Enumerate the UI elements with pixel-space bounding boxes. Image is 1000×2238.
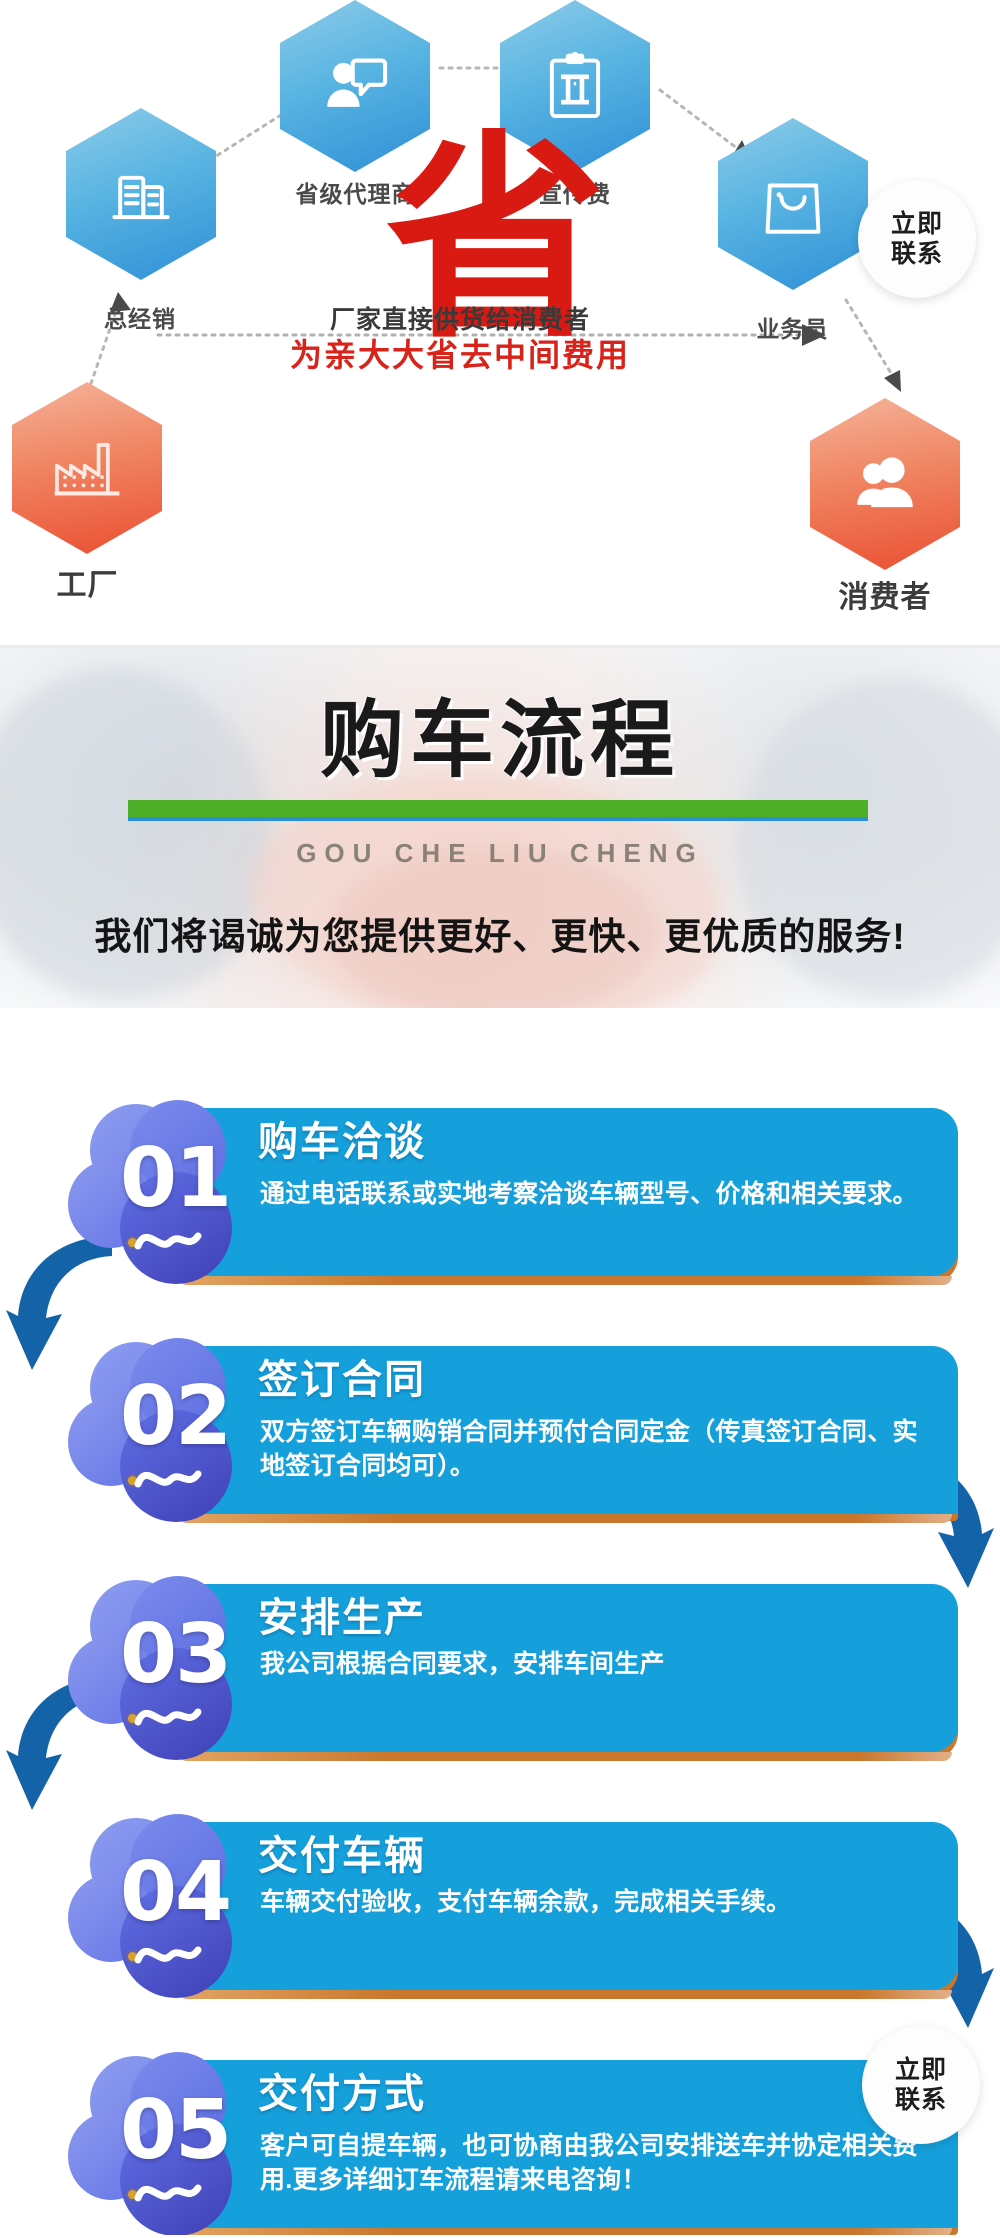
promo-page: 总经销 省级代理商 [0, 0, 1000, 2238]
step-number: 04 [120, 1852, 290, 1934]
tilde-icon [134, 1702, 230, 1732]
step-item-02[interactable]: 签订合同 双方签订车辆购销合同并预付合同定金（传真签订合同、实地签订合同均可）。… [0, 1336, 1000, 1546]
step-item-01[interactable]: 购车洽谈 通过电话联系或实地考察洽谈车辆型号、价格和相关要求。 01 [0, 1098, 1000, 1308]
card-shadow-bar [178, 1752, 952, 1761]
users-icon [848, 447, 922, 521]
card-shadow-bar [178, 1990, 952, 1999]
caption-save-middleman: 为亲大大省去中间费用 [200, 330, 720, 376]
tilde-icon [134, 1464, 230, 1494]
step-number: 01 [120, 1138, 290, 1220]
tilde-icon [134, 1940, 230, 1970]
tilde-icon [134, 1226, 230, 1256]
step-list: 购车洽谈 通过电话联系或实地考察洽谈车辆型号、价格和相关要求。 01 [0, 1008, 1000, 2235]
step-description: 车辆交付验收，支付车辆余款，完成相关手续。 [260, 1886, 930, 1920]
card-shadow-bar [178, 2228, 952, 2235]
shopping-bag-icon [756, 167, 830, 241]
contact-badge-line1: 立即 [895, 2055, 947, 2086]
banner-title: 购车流程 [0, 698, 1000, 782]
node-label-general-distributor: 总经销 [40, 300, 240, 334]
step-item-05[interactable]: 交付方式 客户可自提车辆，也可协商由我公司安排送车并协定相关费用.更多详细订车流… [0, 2050, 1000, 2235]
step-description: 双方签订车辆购销合同并预付合同定金（传真签订合同、实地签订合同均可）。 [260, 1416, 930, 1483]
step-number: 02 [120, 1376, 290, 1458]
agent-chat-icon [318, 49, 392, 123]
step-description: 客户可自提车辆，也可协商由我公司安排送车并协定相关费用.更多详细订车流程请来电咨… [260, 2130, 930, 2197]
step-badge: 02 [68, 1336, 258, 1532]
contact-badge-bottom[interactable]: 立即 联系 [862, 2026, 980, 2144]
step-badge: 04 [68, 1812, 258, 2008]
node-label-factory: 工厂 [0, 560, 175, 604]
step-number: 03 [120, 1614, 290, 1696]
step-description: 通过电话联系或实地考察洽谈车辆型号、价格和相关要求。 [260, 1178, 930, 1212]
banner-subtitle: 我们将谒诚为您提供更好、更快、更优质的服务! [0, 906, 1000, 960]
building-icon [104, 157, 178, 231]
card-shadow-bar [178, 1514, 952, 1523]
title-underline-green [128, 800, 868, 817]
banner-pinyin: GOU CHE LIU CHENG [0, 838, 1000, 869]
contact-badge-line2: 联系 [891, 239, 943, 270]
step-badge: 01 [68, 1098, 258, 1294]
factory-icon [50, 431, 124, 505]
card-shadow-bar [178, 1276, 952, 1285]
step-badge: 05 [68, 2050, 258, 2235]
step-number: 05 [120, 2090, 290, 2172]
contact-badge-top[interactable]: 立即 联系 [858, 180, 976, 298]
title-underline-blue [128, 817, 868, 821]
node-label-consumer: 消费者 [790, 572, 980, 616]
supply-chain-diagram: 总经销 省级代理商 [0, 0, 1000, 648]
contact-badge-line2: 联系 [895, 2085, 947, 2116]
step-item-04[interactable]: 交付车辆 车辆交付验收，支付车辆余款，完成相关手续。 04 [0, 1812, 1000, 2022]
step-badge: 03 [68, 1574, 258, 1770]
process-banner: 购车流程 GOU CHE LIU CHENG 我们将谒诚为您提供更好、更快、更优… [0, 648, 1000, 1008]
step-item-03[interactable]: 安排生产 我公司根据合同要求，安排车间生产 03 [0, 1574, 1000, 1784]
tilde-icon [134, 2178, 230, 2208]
purchase-process-section: 购车流程 GOU CHE LIU CHENG 我们将谒诚为您提供更好、更快、更优… [0, 648, 1000, 2235]
step-description: 我公司根据合同要求，安排车间生产 [260, 1648, 930, 1682]
contact-badge-line1: 立即 [891, 209, 943, 240]
node-label-salesperson: 业务员 [700, 310, 885, 344]
